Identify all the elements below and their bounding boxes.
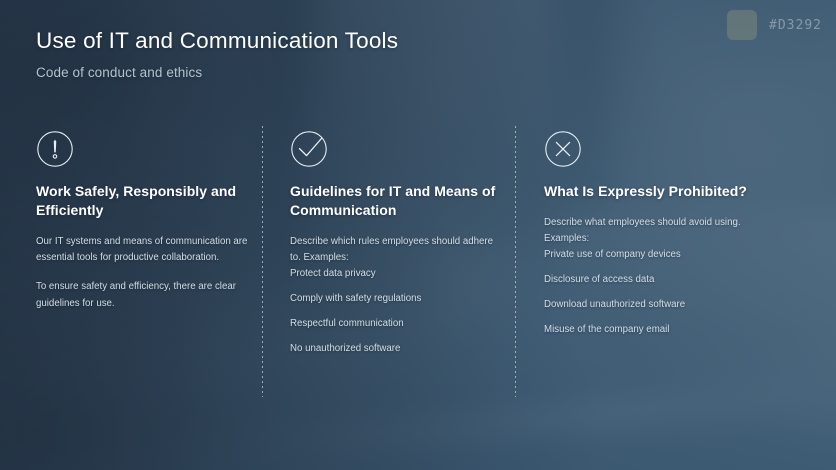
column-divider — [515, 126, 516, 397]
column-list: Protect data privacy Comply with safety … — [290, 266, 506, 357]
column-paragraph: Our IT systems and means of communicatio… — [36, 234, 252, 266]
column-divider — [262, 126, 263, 397]
column-guidelines: Guidelines for IT and Means of Communica… — [290, 130, 506, 366]
columns-container: Work Safely, Responsibly and Efficiently… — [0, 0, 836, 470]
list-item: Misuse of the company email — [544, 322, 760, 338]
slide: Use of IT and Communication Tools Code o… — [0, 0, 836, 470]
list-item: Download unauthorized software — [544, 297, 760, 313]
list-item: No unauthorized software — [290, 341, 506, 357]
column-work-safely: Work Safely, Responsibly and Efficiently… — [36, 130, 252, 312]
list-item: Comply with safety regulations — [290, 291, 506, 307]
column-list: Private use of company devices Disclosur… — [544, 247, 760, 338]
column-paragraph: Describe which rules employees should ad… — [290, 234, 506, 266]
check-circle-icon — [290, 130, 328, 168]
column-paragraph: Describe what employees should avoid usi… — [544, 215, 760, 247]
list-item: Disclosure of access data — [544, 272, 760, 288]
x-circle-icon — [544, 130, 582, 168]
column-heading: Guidelines for IT and Means of Communica… — [290, 182, 506, 220]
column-heading: What Is Expressly Prohibited? — [544, 182, 760, 201]
column-paragraph: To ensure safety and efficiency, there a… — [36, 279, 252, 311]
column-prohibited: What Is Expressly Prohibited? Describe w… — [544, 130, 760, 347]
column-heading: Work Safely, Responsibly and Efficiently — [36, 182, 252, 220]
exclamation-circle-icon — [36, 130, 74, 168]
list-item: Respectful communication — [290, 316, 506, 332]
list-item: Private use of company devices — [544, 247, 760, 263]
slide-content: Use of IT and Communication Tools Code o… — [0, 0, 836, 470]
list-item: Protect data privacy — [290, 266, 506, 282]
